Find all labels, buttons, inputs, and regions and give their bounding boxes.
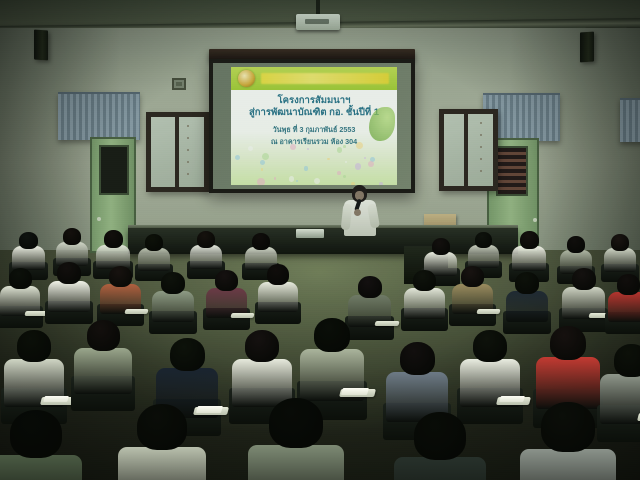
audience-head <box>614 344 640 377</box>
slide-header-band: มหาวิทยาลัยเทคโนโลยีราชมงคล <box>231 67 397 90</box>
audience-head <box>461 266 484 287</box>
slide-header-text: มหาวิทยาลัยเทคโนโลยีราชมงคล <box>261 73 389 84</box>
wall-speaker-right <box>580 32 594 63</box>
audience-head <box>215 270 238 291</box>
audience-torso <box>12 246 45 270</box>
window-valance-far-right <box>620 98 640 142</box>
audience-torso <box>394 457 486 480</box>
tablet-arm-desk <box>24 311 47 316</box>
audience-head <box>358 276 382 298</box>
audience-head <box>19 232 38 249</box>
audience-torso <box>96 245 130 269</box>
wall-noticeboard-right <box>439 109 498 191</box>
audience-torso <box>506 291 548 322</box>
door-window-left <box>99 145 129 195</box>
handout-paper <box>196 406 223 413</box>
lecture-hall-photo: มหาวิทยาลัยเทคโนโลยีราชมงคล โครงการสัมมน… <box>0 0 640 480</box>
audience-head <box>611 234 629 251</box>
audience-torso <box>152 291 194 322</box>
presentation-laptop[interactable] <box>296 229 324 238</box>
projection-screen: มหาวิทยาลัยเทคโนโลยีราชมงคล โครงการสัมมน… <box>213 63 411 189</box>
audience-head <box>197 231 215 248</box>
audience-torso <box>604 248 636 272</box>
audience-head <box>104 230 123 248</box>
audience-head <box>572 268 596 290</box>
audience-head <box>170 338 205 371</box>
wall-speaker-left <box>34 30 48 61</box>
audience-head <box>269 398 323 448</box>
audience-head <box>400 342 435 375</box>
audience-torso <box>248 445 344 480</box>
audience-head <box>314 318 350 352</box>
board-marks <box>480 122 482 178</box>
ceiling-projector <box>296 14 340 30</box>
audience-torso <box>74 348 132 394</box>
audience-head <box>17 330 51 362</box>
audience-head <box>245 330 279 362</box>
audience-head <box>475 232 492 248</box>
audience-torso <box>512 246 546 271</box>
audience-head <box>57 262 81 284</box>
audience-torso <box>520 449 616 480</box>
window-valance-left <box>58 92 140 140</box>
presentation-slide: มหาวิทยาลัยเทคโนโลยีราชมงคล โครงการสัมมน… <box>231 67 397 185</box>
tablet-arm-desk <box>231 313 255 318</box>
audience-head <box>541 402 595 452</box>
slide-floral-decoration <box>231 141 397 185</box>
tablet-arm-desk <box>125 309 149 314</box>
audience-head <box>414 412 466 460</box>
door-window-right <box>496 146 528 196</box>
handout-paper <box>43 396 69 402</box>
audience-head <box>161 272 185 294</box>
presenter-hand <box>354 209 361 216</box>
audience-head <box>109 266 132 287</box>
handout-paper <box>341 388 369 395</box>
audience-torso <box>608 292 640 322</box>
audience-head <box>520 231 539 249</box>
audience-head <box>432 238 450 255</box>
audience-head <box>63 228 81 245</box>
board-divider <box>175 117 179 187</box>
audience-torso <box>138 248 170 271</box>
audience-head <box>267 264 289 285</box>
board-marks <box>187 125 189 181</box>
audience-head <box>9 268 32 289</box>
audience-torso <box>190 245 222 269</box>
audience-head <box>515 272 539 294</box>
door-knob-right[interactable] <box>533 218 537 222</box>
audience-torso <box>600 374 640 424</box>
audience-head <box>145 234 163 251</box>
wall-noticeboard-left <box>146 112 209 192</box>
tablet-arm-desk <box>374 321 399 326</box>
audience-head <box>137 404 187 450</box>
audience-torso <box>258 282 298 312</box>
audience-head <box>10 410 62 458</box>
audience-torso <box>48 281 90 312</box>
audience-torso <box>0 455 82 480</box>
door-knob-left[interactable] <box>97 217 101 221</box>
presenter-with-microphone <box>342 185 378 247</box>
audience-head <box>87 320 120 351</box>
board-divider <box>464 114 468 186</box>
audience-torso <box>468 245 499 268</box>
audience-head <box>252 233 270 250</box>
audience-head <box>617 274 640 295</box>
tablet-arm-desk <box>477 309 501 314</box>
audience-head <box>413 270 436 291</box>
audience-torso <box>118 447 206 480</box>
audience-torso <box>404 288 445 319</box>
university-seal-logo <box>238 70 255 87</box>
audience-head <box>550 326 586 360</box>
audience-head <box>473 330 507 362</box>
room-number-plaque <box>172 78 186 90</box>
handout-paper <box>499 396 525 402</box>
audience-head <box>567 236 585 253</box>
